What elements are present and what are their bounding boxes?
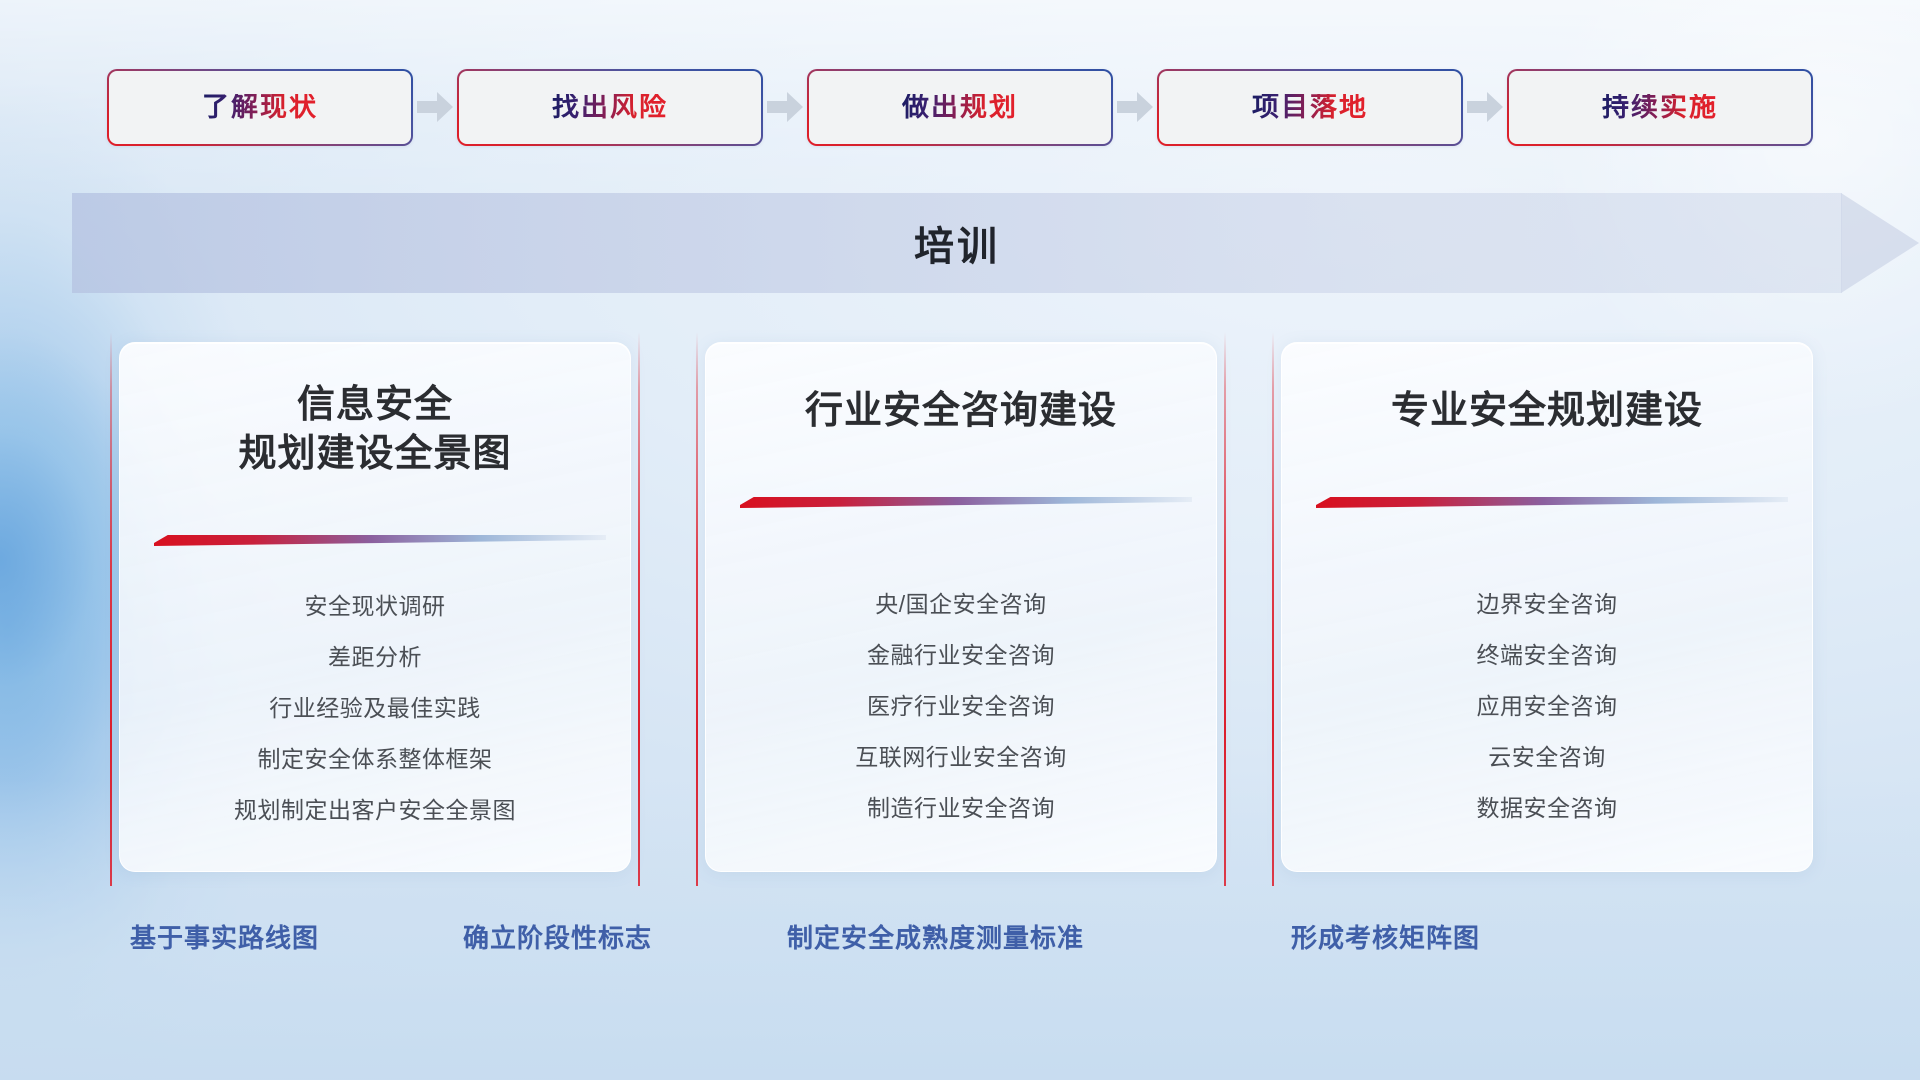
service-card-1-title-line-1: 信息安全 (120, 381, 630, 430)
service-card-2[interactable]: 行业安全咨询建设 央/国 (705, 342, 1217, 872)
list-item: 金融行业安全咨询 (706, 644, 1216, 667)
training-arrow-band: 培训 (72, 193, 1920, 293)
step-box-3[interactable]: 做出规划 (807, 69, 1113, 146)
step-label-4: 项目落地 (1252, 94, 1368, 121)
card-1-left-accent-line (110, 332, 112, 886)
service-card-1-title-line-2: 规划建设全景图 (120, 430, 630, 479)
list-item: 数据安全咨询 (1282, 797, 1812, 820)
training-band-arrow-tip-icon (1841, 177, 1919, 309)
list-item: 互联网行业安全咨询 (706, 746, 1216, 769)
arrow-right-icon (1113, 68, 1157, 146)
service-card-2-list: 央/国企安全咨询 金融行业安全咨询 医疗行业安全咨询 互联网行业安全咨询 制造行… (706, 593, 1216, 848)
service-card-1-wrapper: 信息安全 规划建设全景图 (110, 332, 640, 886)
footnote-4: 形成考核矩阵图 (1291, 918, 1480, 955)
service-card-2-divider (740, 495, 1192, 509)
service-card-row: 信息安全 规划建设全景图 (0, 332, 1920, 886)
step-box-4[interactable]: 项目落地 (1157, 69, 1463, 146)
process-step-flow: 了解现状 找出风险 做出规划 项目落地 持续实施 (0, 68, 1920, 146)
arrow-right-icon (1463, 68, 1507, 146)
step-box-1[interactable]: 了解现状 (107, 69, 413, 146)
training-band-title: 培训 (72, 193, 1842, 293)
step-box-5[interactable]: 持续实施 (1507, 69, 1813, 146)
list-item: 制定安全体系整体框架 (120, 748, 630, 771)
list-item: 行业经验及最佳实践 (120, 697, 630, 720)
service-card-3-title-line-1: 专业安全规划建设 (1282, 387, 1812, 436)
arrow-right-icon (413, 68, 457, 146)
list-item: 终端安全咨询 (1282, 644, 1812, 667)
list-item: 差距分析 (120, 646, 630, 669)
list-item: 边界安全咨询 (1282, 593, 1812, 616)
footnote-1: 基于事实路线图 (130, 918, 319, 955)
service-card-3-wrapper: 专业安全规划建设 边界安 (1272, 332, 1822, 886)
list-item: 制造行业安全咨询 (706, 797, 1216, 820)
step-box-2[interactable]: 找出风险 (457, 69, 763, 146)
service-card-3-divider (1316, 495, 1788, 509)
service-card-1[interactable]: 信息安全 规划建设全景图 (119, 342, 631, 872)
step-label-3: 做出规划 (902, 94, 1018, 121)
list-item: 央/国企安全咨询 (706, 593, 1216, 616)
list-item: 医疗行业安全咨询 (706, 695, 1216, 718)
footnote-3: 制定安全成熟度测量标准 (787, 918, 1084, 955)
service-card-3-list: 边界安全咨询 终端安全咨询 应用安全咨询 云安全咨询 数据安全咨询 (1282, 593, 1812, 848)
service-card-1-title: 信息安全 规划建设全景图 (120, 381, 630, 480)
service-card-3-title: 专业安全规划建设 (1282, 387, 1812, 436)
footnote-2: 确立阶段性标志 (463, 918, 652, 955)
card-1-right-accent-line (638, 332, 640, 886)
list-item: 安全现状调研 (120, 595, 630, 618)
arrow-right-icon (763, 68, 807, 146)
step-label-5: 持续实施 (1602, 94, 1718, 121)
list-item: 规划制定出客户安全全景图 (120, 799, 630, 822)
step-label-2: 找出风险 (552, 94, 668, 121)
footnote-row: 基于事实路线图 确立阶段性标志 制定安全成熟度测量标准 形成考核矩阵图 (0, 918, 1920, 978)
list-item: 云安全咨询 (1282, 746, 1812, 769)
step-label-1: 了解现状 (202, 94, 318, 121)
service-card-1-list: 安全现状调研 差距分析 行业经验及最佳实践 制定安全体系整体框架 规划制定出客户… (120, 595, 630, 850)
card-3-left-accent-line (1272, 332, 1274, 886)
service-card-1-divider (154, 533, 606, 547)
service-card-2-title-line-1: 行业安全咨询建设 (706, 387, 1216, 436)
service-card-3[interactable]: 专业安全规划建设 边界安 (1281, 342, 1813, 872)
service-card-2-wrapper: 行业安全咨询建设 央/国 (696, 332, 1226, 886)
card-2-left-accent-line (696, 332, 698, 886)
list-item: 应用安全咨询 (1282, 695, 1812, 718)
service-card-2-title: 行业安全咨询建设 (706, 387, 1216, 436)
card-2-right-accent-line (1224, 332, 1226, 886)
